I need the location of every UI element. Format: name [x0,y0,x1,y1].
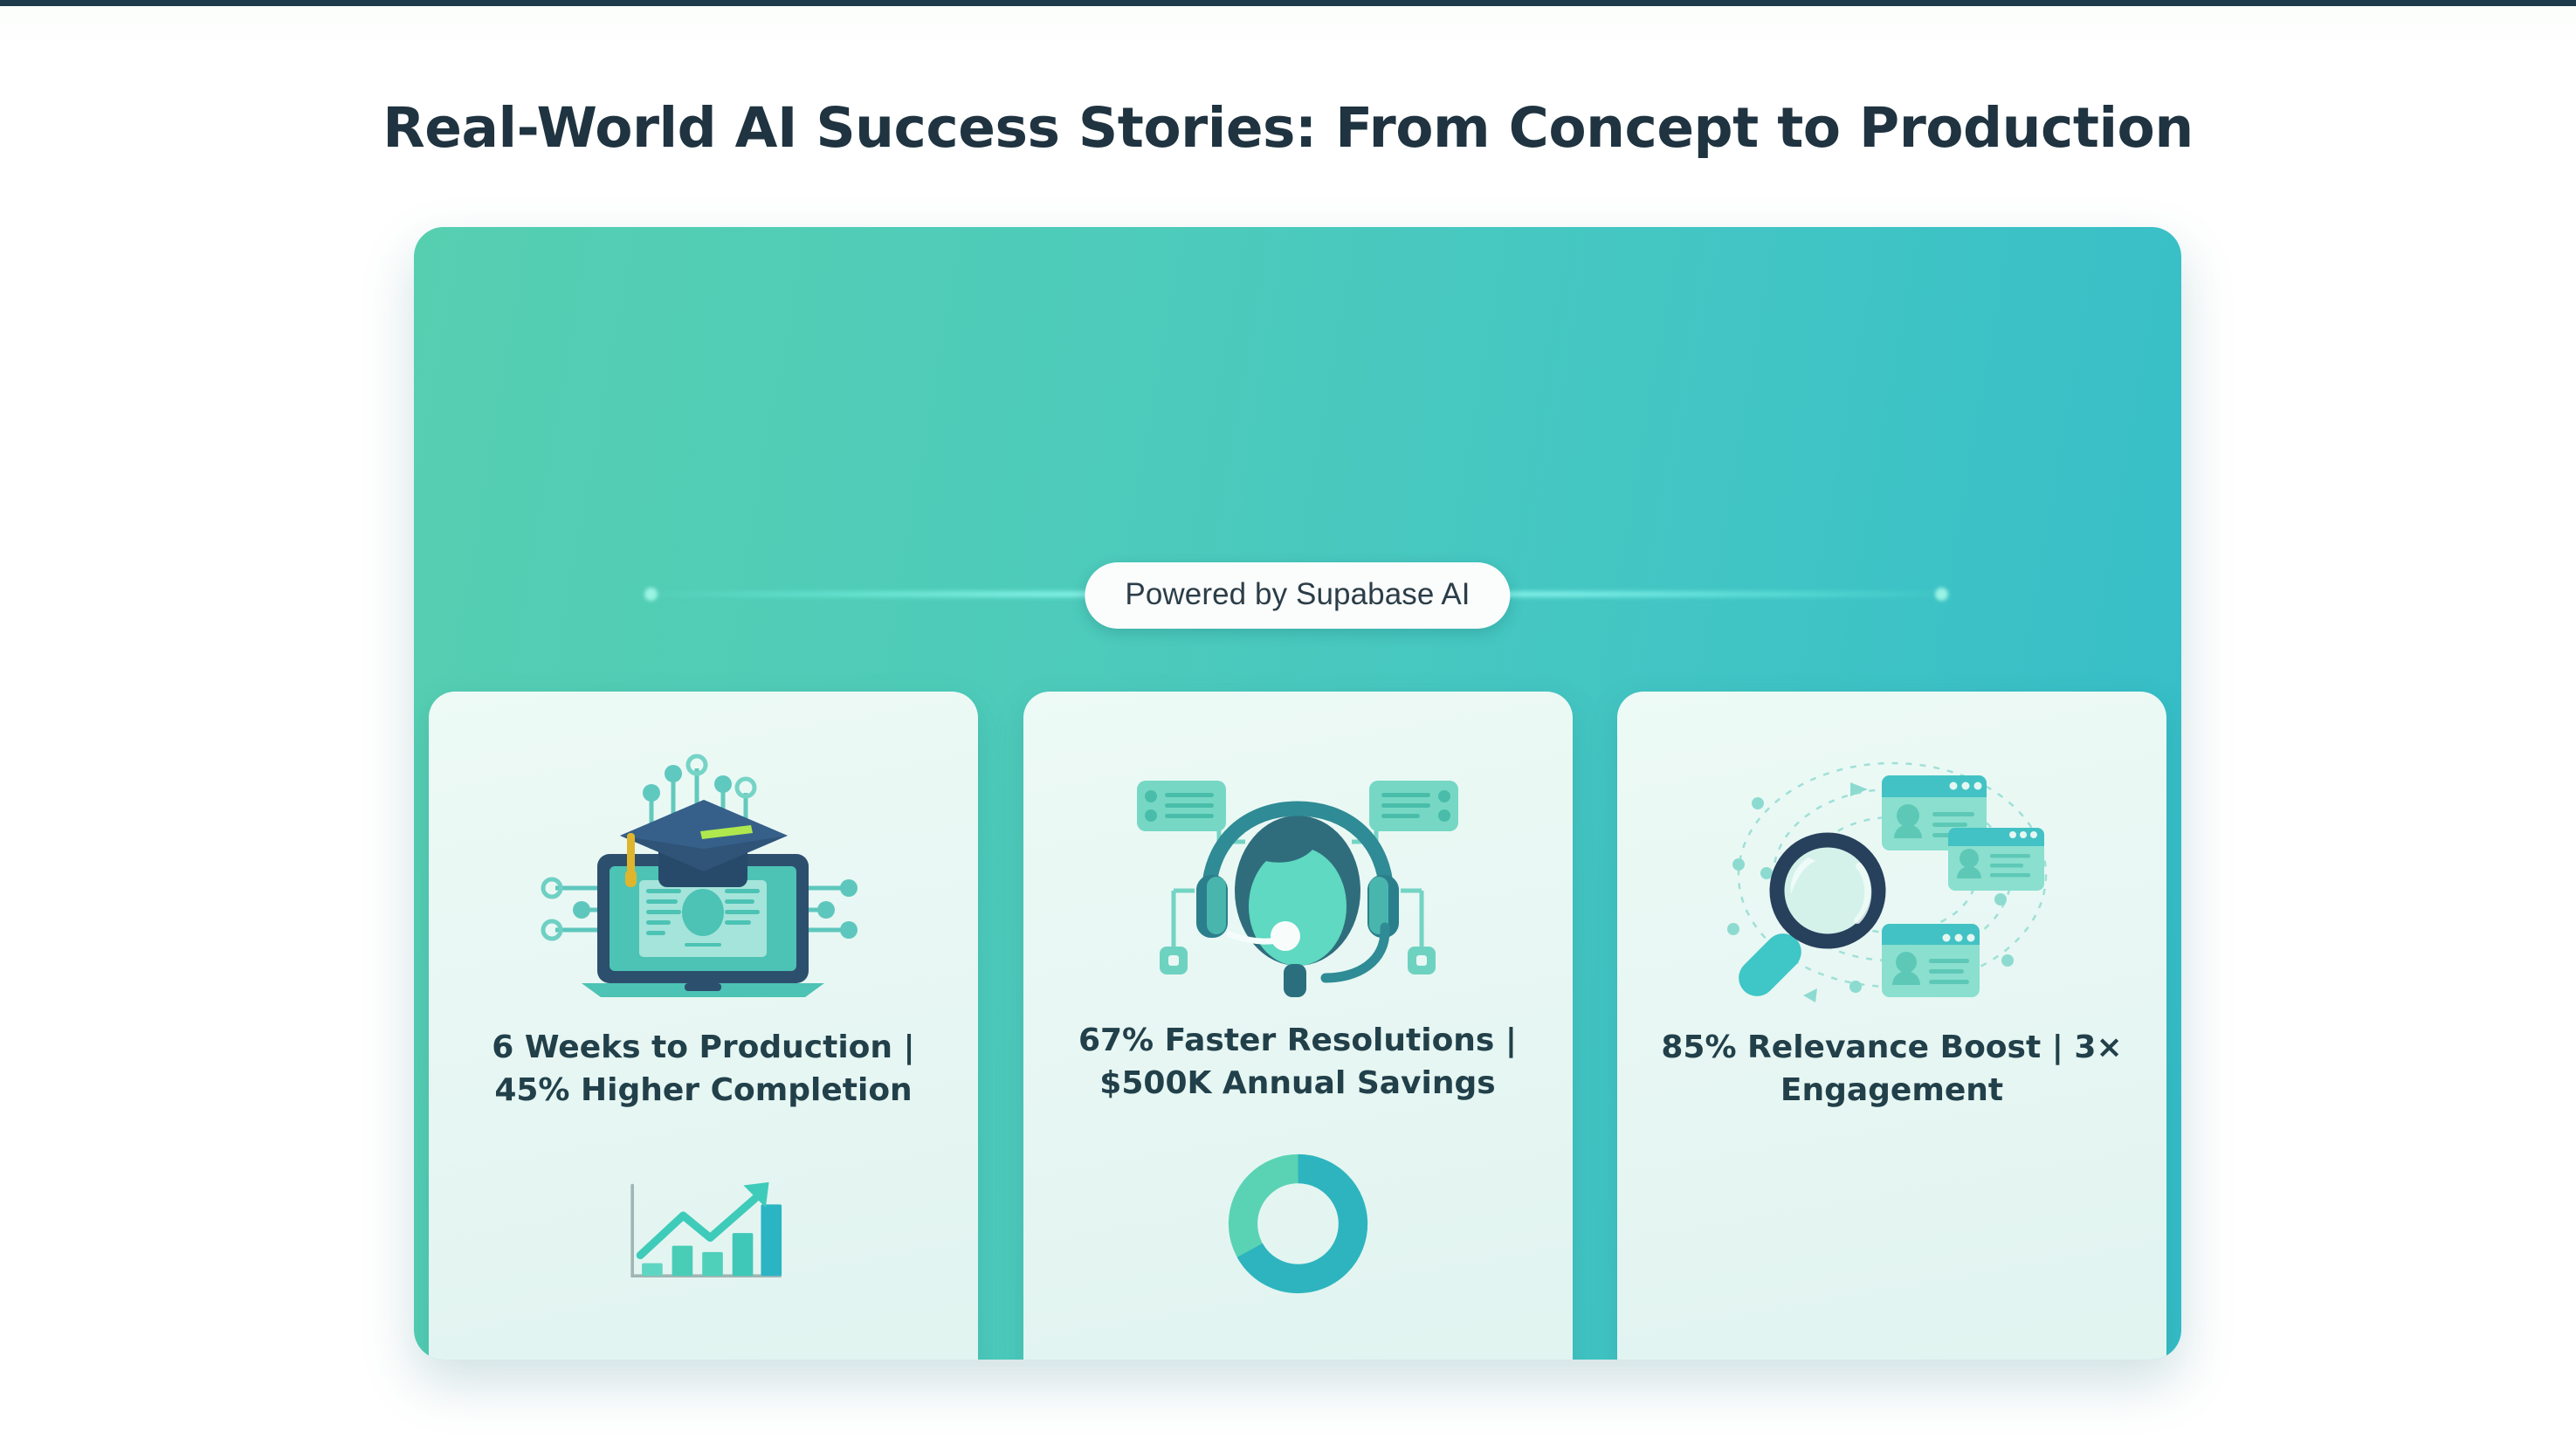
bar-growth-chart-icon [616,1158,791,1311]
donut-chart-icon [1222,1147,1374,1300]
page-title: Real-World AI Success Stories: From Conc… [0,96,2576,160]
stat-line-1: 85% Relevance Boost | [1661,1029,2063,1065]
laptop-graduation-cap-icon [529,744,878,1006]
top-strip-fade [0,6,2576,54]
cards-row: 6 Weeks to Production | 45% Higher Compl… [414,692,2181,1360]
card-content-platform[interactable]: 85% Relevance Boost | 3× Engagement Cont… [1617,692,2166,1360]
magnifier-profile-cards-icon [1718,744,2067,1006]
card-stat-support: 67% Faster Resolutions | $500K Annual Sa… [1023,1020,1573,1105]
infographic-page: Real-World AI Success Stories: From Conc… [0,0,2576,1446]
support-agent-headset-icon [1123,744,1472,1006]
stat-line-1: 67% Faster Resolutions | [1078,1023,1517,1058]
stat-line-1: 6 Weeks to Production | [492,1029,914,1065]
card-edtech[interactable]: 6 Weeks to Production | 45% Higher Compl… [429,692,978,1360]
stat-line-2: 45% Higher Completion [494,1072,912,1108]
glow-dot-right-icon [1935,588,1948,601]
main-panel: Powered by Supabase AI [414,227,2181,1360]
card-stat-edtech: 6 Weeks to Production | 45% Higher Compl… [429,1027,978,1112]
glow-dot-left-icon [644,588,658,601]
card-stat-content: 85% Relevance Boost | 3× Engagement [1617,1027,2166,1112]
top-strip [0,0,2576,6]
powered-by-badge: Powered by Supabase AI [1085,562,1510,629]
card-customer-support[interactable]: 67% Faster Resolutions | $500K Annual Sa… [1023,692,1573,1360]
stat-line-2: $500K Annual Savings [1099,1065,1495,1101]
